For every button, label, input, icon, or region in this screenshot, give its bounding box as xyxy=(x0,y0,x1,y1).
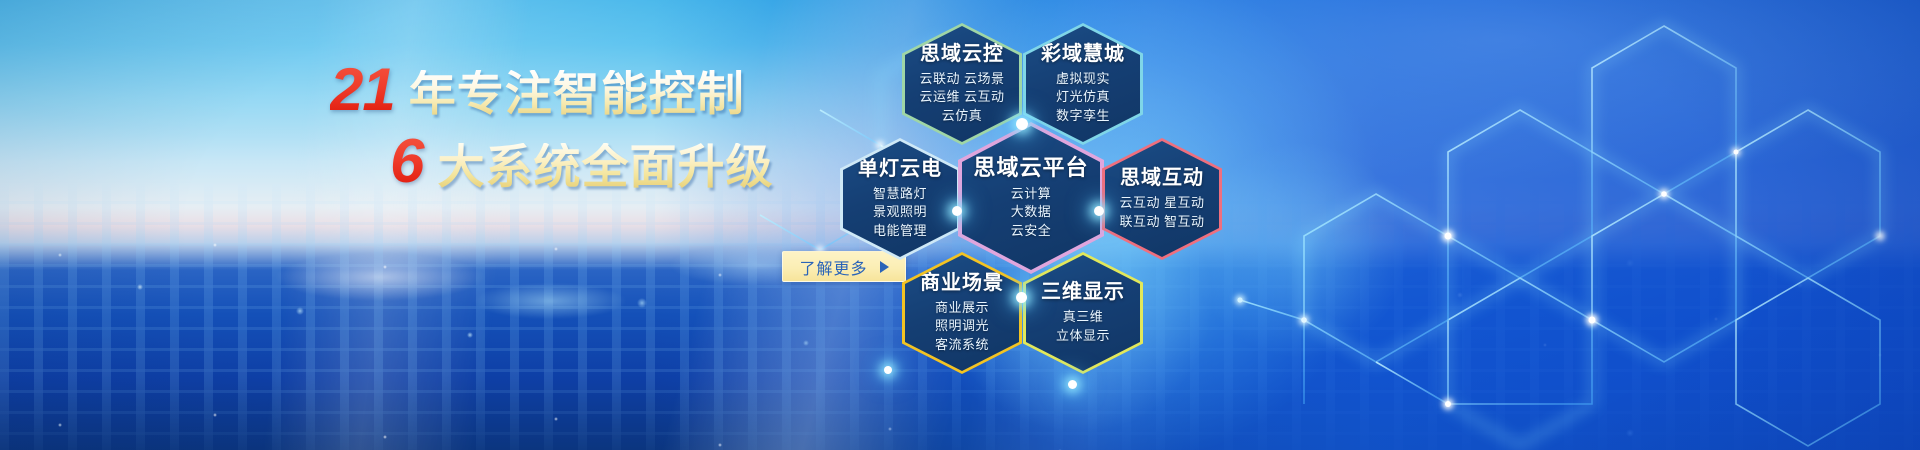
hex-items-sanwei-xianshi: 真三维 立体显示 xyxy=(1056,308,1110,345)
hex-item: 虚拟现实 xyxy=(1056,70,1110,88)
headline-line-1: 21 年专注智能控制 xyxy=(330,62,800,117)
hex-item: 云运维 云互动 xyxy=(919,88,1004,106)
hex-title-siyu-hudong: 思域互动 xyxy=(1120,167,1204,189)
hex-items-shangye-changjing: 商业展示 照明调光 客流系统 xyxy=(935,299,989,354)
headline-text-years: 年专注智能控制 xyxy=(409,70,745,117)
hex-item: 商业展示 xyxy=(935,299,989,317)
glow-node xyxy=(1016,292,1027,303)
hex-items-siyu-yunkong: 云联动 云场景 云运维 云互动 云仿真 xyxy=(919,70,1004,125)
hex-item: 云安全 xyxy=(1011,222,1052,240)
hex-item: 电能管理 xyxy=(873,222,927,240)
glow-node xyxy=(1068,380,1077,389)
hex-item: 立体显示 xyxy=(1056,327,1110,345)
hex-item: 云互动 星互动 xyxy=(1119,194,1204,212)
headline-text-systems: 大系统全面升级 xyxy=(437,143,773,190)
hex-item: 客流系统 xyxy=(935,336,989,354)
hex-items-caiyu-huicheng: 虚拟现实 灯光仿真 数字孪生 xyxy=(1056,70,1110,125)
hex-title-sanwei-xianshi: 三维显示 xyxy=(1041,281,1125,303)
headline-number-systems: 6 xyxy=(390,133,427,190)
glow-node xyxy=(952,206,962,216)
glow-node xyxy=(1016,118,1028,130)
hex-item: 真三维 xyxy=(1056,308,1110,326)
hex-item: 联互动 智互动 xyxy=(1119,213,1204,231)
hex-item: 云仿真 xyxy=(919,107,1004,125)
hex-title-siyu-yunkong: 思域云控 xyxy=(920,43,1004,65)
hex-title-shangye-changjing: 商业场景 xyxy=(920,272,1004,294)
glow-node xyxy=(1094,206,1104,216)
headline-line-2: 6 大系统全面升级 xyxy=(330,133,800,190)
headline-block: 21 年专注智能控制 6 大系统全面升级 xyxy=(330,62,800,190)
hex-items-siyu-yunpingtai: 云计算 大数据 云安全 xyxy=(1011,185,1052,240)
hero-banner: 21 年专注智能控制 6 大系统全面升级 了解更多 思域云控 云联动 云场景 云… xyxy=(0,0,1920,450)
hex-title-siyu-yunpingtai: 思域云平台 xyxy=(973,156,1088,180)
glow-node xyxy=(884,366,892,374)
hex-title-caiyu-huicheng: 彩域慧城 xyxy=(1041,43,1125,65)
headline-number-years: 21 xyxy=(330,62,399,117)
solutions-hex-cluster: 思域云控 云联动 云场景 云运维 云互动 云仿真 彩域慧城 虚拟现实 灯光仿真 … xyxy=(820,0,1440,450)
hex-items-dandeng-yundian: 智慧路灯 景观照明 电能管理 xyxy=(873,185,927,240)
hex-item: 灯光仿真 xyxy=(1056,88,1110,106)
hex-item: 照明调光 xyxy=(935,317,989,335)
hex-item: 智慧路灯 xyxy=(873,185,927,203)
hex-item: 数字孪生 xyxy=(1056,107,1110,125)
hex-items-siyu-hudong: 云互动 星互动 联互动 智互动 xyxy=(1119,194,1204,231)
hex-item: 景观照明 xyxy=(873,203,927,221)
hex-title-dandeng-yundian: 单灯云电 xyxy=(858,158,942,180)
hex-item: 云联动 云场景 xyxy=(919,70,1004,88)
hex-item: 大数据 xyxy=(1011,203,1052,221)
hex-item: 云计算 xyxy=(1011,185,1052,203)
